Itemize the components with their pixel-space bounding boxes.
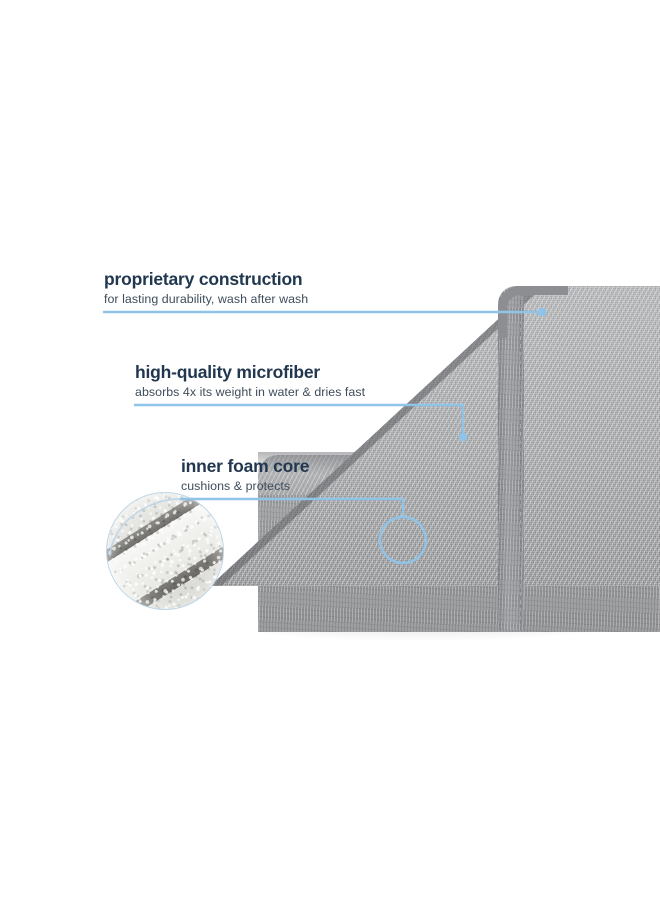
callout-title: proprietary construction: [104, 270, 308, 290]
callout-subtitle: cushions & protects: [181, 479, 309, 494]
foam-inset-vignette: [107, 493, 223, 609]
foam-cross-section-inset: [106, 492, 224, 610]
mat-folded-flap: [210, 286, 660, 586]
callout-title: inner foam core: [181, 457, 309, 477]
callout-title: high-quality microfiber: [135, 363, 365, 383]
infographic-canvas: proprietary construction for lasting dur…: [0, 0, 660, 900]
mat-flap-noise-texture: [210, 286, 660, 586]
callout-high-quality-microfiber: high-quality microfiber absorbs 4x its w…: [135, 363, 365, 399]
callout-proprietary-construction: proprietary construction for lasting dur…: [104, 270, 308, 306]
callout-inner-foam-core: inner foam core cushions & protects: [181, 457, 309, 493]
mat-stitch-line: [520, 300, 521, 630]
callout-subtitle: absorbs 4x its weight in water & dries f…: [135, 385, 365, 400]
product-photo-bath-mat: [0, 0, 660, 900]
mat-fold-rounded-corner: [498, 286, 568, 338]
callout-subtitle: for lasting durability, wash after wash: [104, 292, 308, 307]
